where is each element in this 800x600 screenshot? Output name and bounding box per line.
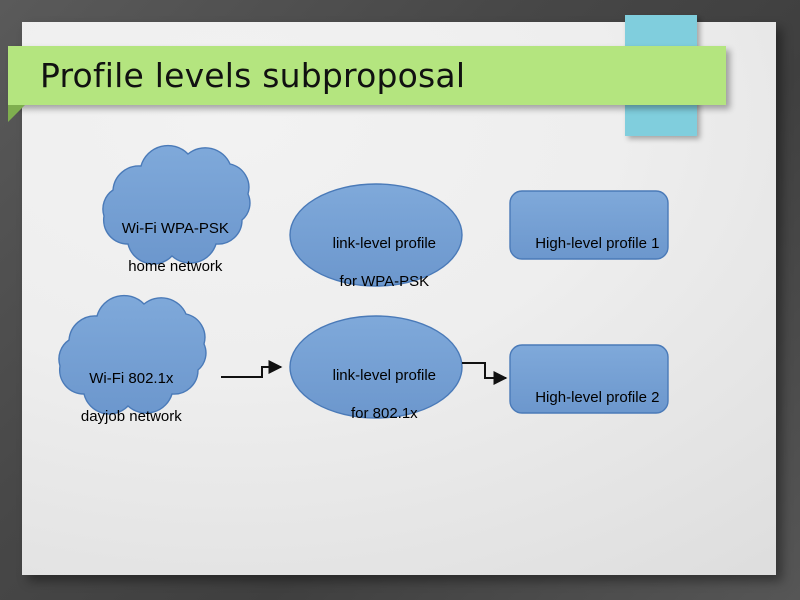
slide-viewer: Profile levels subproposal xyxy=(0,0,800,600)
cloud-shape xyxy=(103,146,250,264)
node-rect-high-level-1[interactable] xyxy=(510,191,668,259)
rounded-rect-shape xyxy=(510,345,668,413)
connector-ellipse-to-rect[interactable] xyxy=(462,363,506,378)
cloud-shape xyxy=(59,296,206,414)
ellipse-shape xyxy=(290,316,462,418)
node-cloud-8021x[interactable] xyxy=(59,296,206,414)
node-ellipse-wpa-psk[interactable] xyxy=(290,184,462,286)
connector-cloud-to-ellipse[interactable] xyxy=(221,367,281,377)
elbow-arrow-line xyxy=(221,367,281,377)
node-rect-high-level-2[interactable] xyxy=(510,345,668,413)
elbow-arrow-line xyxy=(462,363,506,378)
rounded-rect-shape xyxy=(510,191,668,259)
diagram-canvas xyxy=(0,0,800,600)
ellipse-shape xyxy=(290,184,462,286)
node-cloud-wpa-psk[interactable] xyxy=(103,146,250,264)
node-ellipse-8021x[interactable] xyxy=(290,316,462,418)
